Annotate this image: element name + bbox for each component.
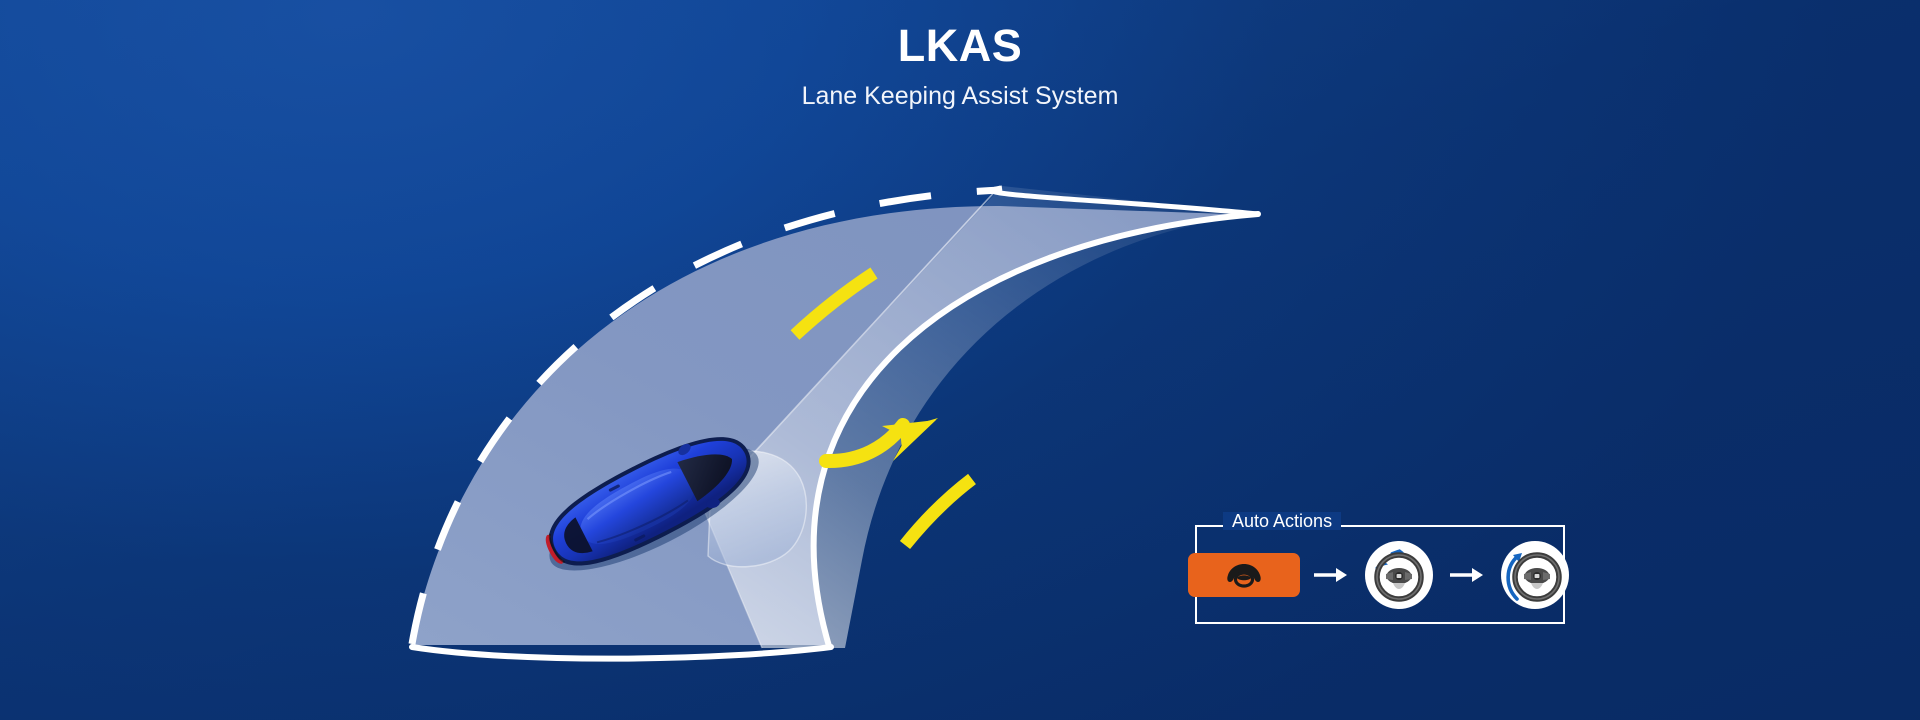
auto-actions-legend: Auto Actions bbox=[1195, 525, 1565, 624]
car-body-group bbox=[529, 415, 773, 590]
lane-departure-icon bbox=[1221, 560, 1267, 590]
page-title: LKAS bbox=[0, 22, 1920, 69]
lane-departure-badge[interactable] bbox=[1188, 553, 1300, 597]
step-arrow-2-icon bbox=[1450, 566, 1484, 584]
vehicle-top-view bbox=[515, 415, 785, 590]
lkas-illustration-page: LKAS Lane Keeping Assist System bbox=[0, 0, 1920, 720]
steering-wheel-large-correction[interactable] bbox=[1498, 538, 1572, 612]
page-subtitle: Lane Keeping Assist System bbox=[0, 83, 1920, 111]
legend-steps bbox=[1195, 525, 1565, 624]
step-arrow-1-icon bbox=[1314, 566, 1348, 584]
road-bottom-solid-edge bbox=[412, 647, 831, 659]
page-header: LKAS Lane Keeping Assist System bbox=[0, 22, 1920, 111]
steering-wheel-small-correction[interactable] bbox=[1362, 538, 1436, 612]
car-illustration bbox=[515, 415, 785, 590]
